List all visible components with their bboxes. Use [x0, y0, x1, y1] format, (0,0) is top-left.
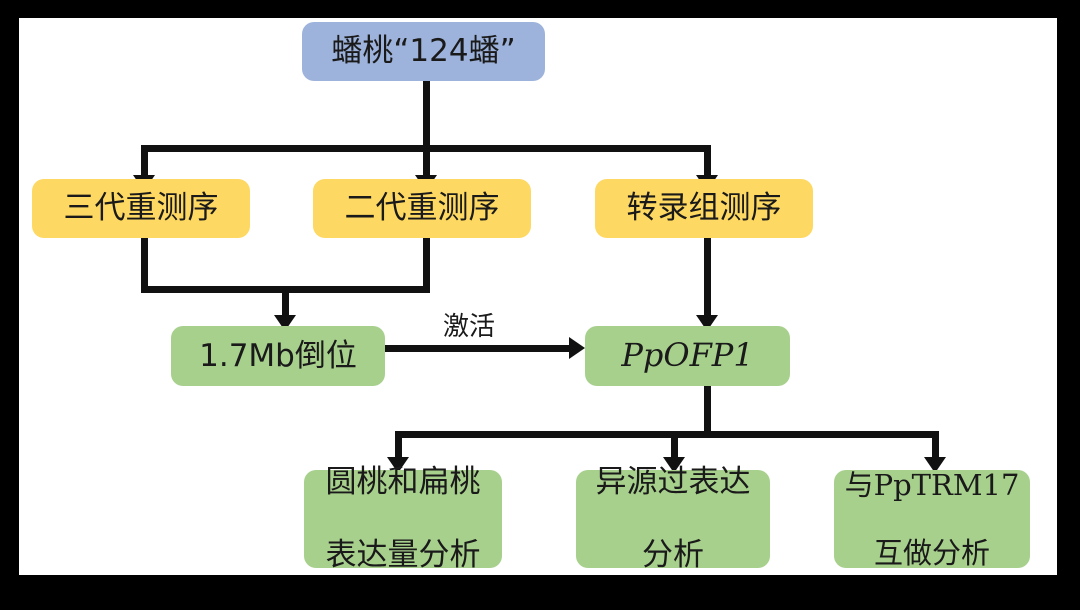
node-analysis-interaction[interactable]: 与PpTRM17 互做分析: [834, 470, 1030, 568]
connector-merge-to-inversion: [282, 286, 289, 317]
node-seq-rna[interactable]: 转录组测序: [595, 179, 813, 238]
node-analysis-expression-line1: 圆桃和扁桃: [326, 464, 481, 501]
arrowhead-to-gene-left: [569, 337, 585, 359]
connector-seq-short-down: [423, 238, 430, 293]
connector-root-to-seq-rna: [704, 145, 711, 177]
node-root-label: 蟠桃“124蟠”: [331, 33, 515, 70]
edge-label-activate: 激活: [443, 306, 495, 343]
node-seq-long[interactable]: 三代重测序: [32, 179, 250, 238]
black-frame-border: 激活 蟠桃“124蟠” 三代重测序 二代重测序 转录组测序 1.7Mb倒位: [0, 0, 1080, 589]
node-root[interactable]: 蟠桃“124蟠”: [302, 22, 545, 81]
node-analysis-interaction-line1: 与PpTRM17: [845, 468, 1020, 502]
connector-seq-rna-to-gene: [704, 238, 711, 317]
node-seq-long-label: 三代重测序: [64, 190, 219, 227]
node-seq-rna-label: 转录组测序: [627, 190, 782, 227]
node-gene-ppofp1[interactable]: PpOFP1: [585, 326, 790, 386]
diagram-canvas: 激活 蟠桃“124蟠” 三代重测序 二代重测序 转录组测序 1.7Mb倒位: [19, 18, 1057, 575]
node-gene-ppofp1-label: PpOFP1: [621, 337, 753, 375]
node-inversion-label: 1.7Mb倒位: [199, 338, 357, 375]
node-analysis-expression[interactable]: 圆桃和扁桃 表达量分析: [304, 470, 502, 568]
node-seq-short[interactable]: 二代重测序: [313, 179, 531, 238]
node-analysis-interaction-prefix: 与: [845, 468, 874, 502]
node-analysis-overexpression-line2: 分析: [596, 537, 751, 574]
node-analysis-interaction-gene: PpTRM17: [874, 468, 1020, 502]
connector-root-stem: [423, 81, 430, 145]
connector-inversion-to-gene: [385, 345, 571, 352]
node-analysis-overexpression[interactable]: 异源过表达 分析: [576, 470, 770, 568]
node-analysis-overexpression-line1: 异源过表达: [596, 464, 751, 501]
node-inversion[interactable]: 1.7Mb倒位: [171, 326, 385, 386]
node-analysis-interaction-line2: 互做分析: [845, 536, 1020, 570]
node-seq-short-label: 二代重测序: [345, 190, 500, 227]
node-analysis-expression-label: 圆桃和扁桃 表达量分析: [326, 428, 481, 610]
node-analysis-interaction-label: 与PpTRM17 互做分析: [845, 433, 1020, 604]
node-analysis-expression-line2: 表达量分析: [326, 537, 481, 574]
connector-seq-long-down: [141, 238, 148, 293]
connector-root-to-seq-long: [141, 145, 148, 177]
node-analysis-overexpression-label: 异源过表达 分析: [596, 428, 751, 610]
connector-root-to-seq-short: [423, 145, 430, 177]
